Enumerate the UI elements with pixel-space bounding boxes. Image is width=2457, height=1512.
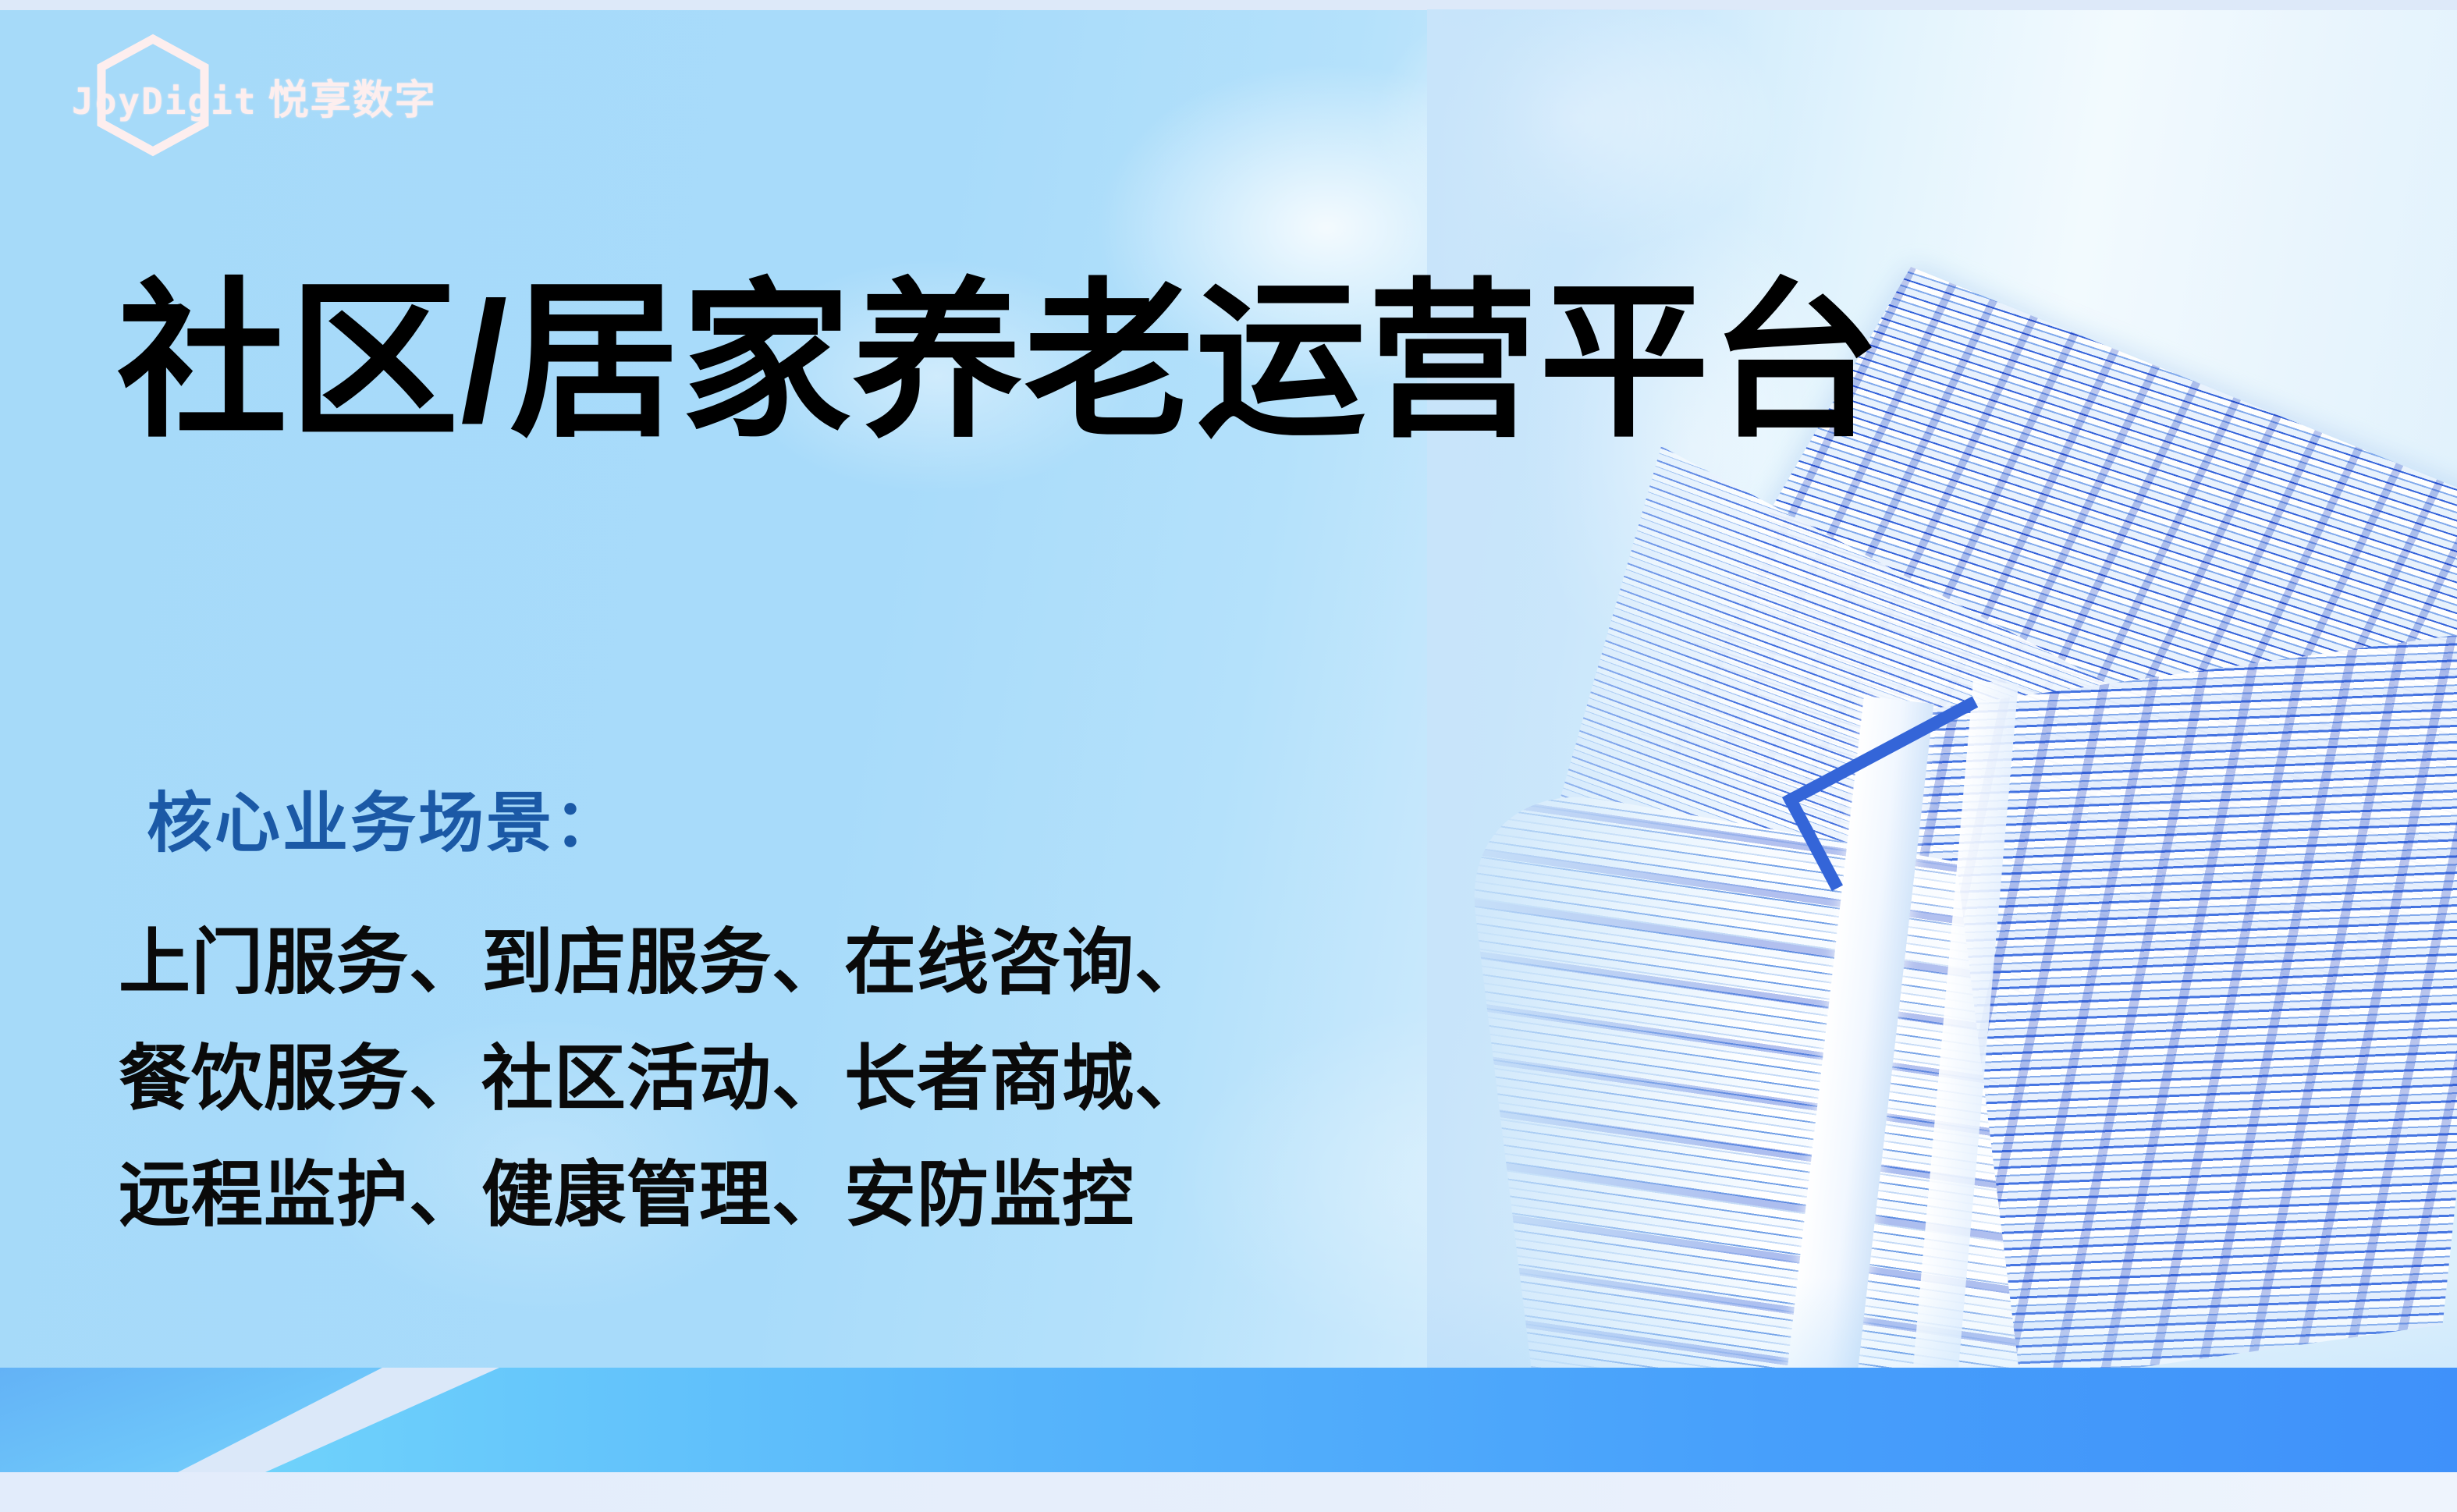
brand-name-en: JoyDigit — [72, 80, 257, 122]
scenario-line-2: 餐饮服务、社区活动、长者商城、 — [119, 1021, 1207, 1138]
brand-wordmark: JoyDigit悦享数字 — [72, 67, 353, 126]
banner-footer-strip — [0, 1472, 2457, 1512]
photo-bottom-fade — [1427, 1277, 2457, 1371]
section-label: 核心业务场景： — [147, 771, 622, 865]
business-scenario-list: 上门服务、到店服务、在线咨询、 餐饮服务、社区活动、长者商城、 远程监护、健康管… — [119, 905, 1207, 1254]
photo-left-fade — [1427, 9, 1763, 1371]
brand-logo[interactable]: JoyDigit悦享数字 — [72, 33, 353, 158]
skyscraper-photo — [1427, 9, 2457, 1371]
page-title: 社区/居家养老运营平台 — [117, 262, 1883, 463]
scenario-line-1: 上门服务、到店服务、在线咨询、 — [119, 905, 1207, 1021]
scenario-line-3: 远程监护、健康管理、安防监控 — [119, 1138, 1207, 1254]
brand-name-cn: 悦享数字 — [268, 78, 437, 123]
bottom-banner — [0, 1368, 2457, 1512]
slide-canvas: JoyDigit悦享数字 社区/居家养老运营平台 核心业务场景： 上门服务、到店… — [0, 0, 2457, 1512]
